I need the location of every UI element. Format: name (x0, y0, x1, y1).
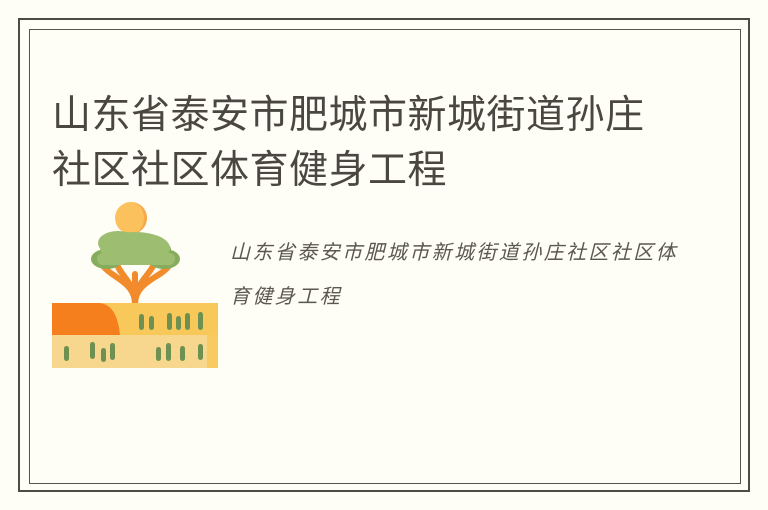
savanna-illustration (52, 196, 218, 368)
content-row: 山东省泰安市肥城市新城街道孙庄社区社区体育健身工程 (52, 196, 692, 371)
savanna-scene-icon (52, 196, 218, 368)
page-title: 山东省泰安市肥城市新城街道孙庄社区社区体育健身工程 (52, 88, 672, 198)
sun-icon (115, 202, 147, 234)
ground-right-strip (207, 303, 218, 368)
tree-canopy-icon (91, 231, 180, 269)
ground-lower-band (52, 335, 218, 368)
body-paragraph: 山东省泰安市肥城市新城街道孙庄社区社区体育健身工程 (230, 230, 680, 318)
poster-page: 山东省泰安市肥城市新城街道孙庄社区社区体育健身工程 (0, 0, 768, 510)
dune-shape (52, 303, 120, 335)
